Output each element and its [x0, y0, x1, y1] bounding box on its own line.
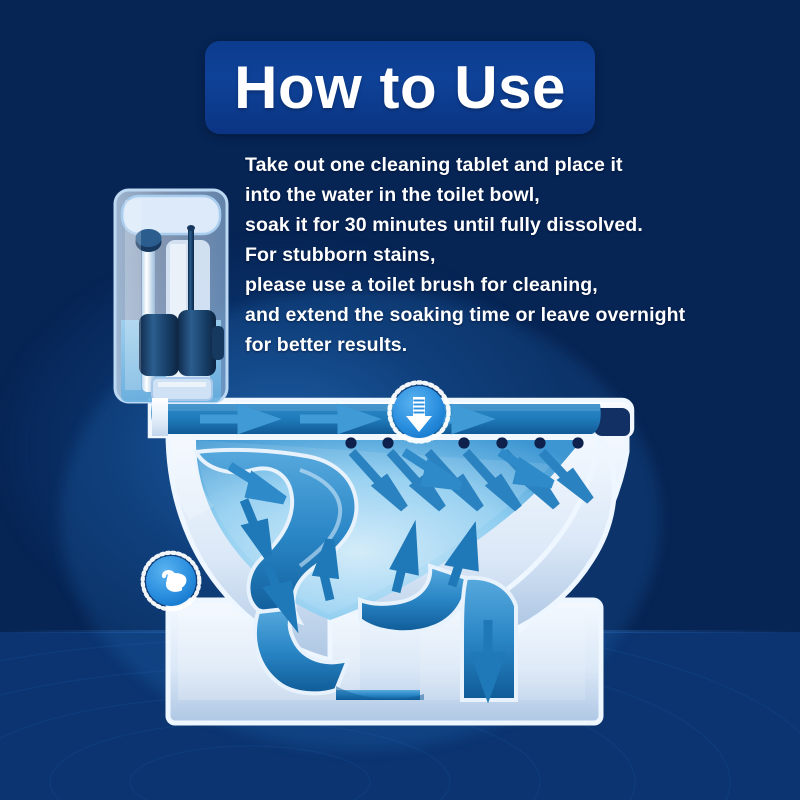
down-arrow-badge[interactable] [387, 380, 451, 444]
instruction-line: For stubborn stains, [245, 240, 765, 270]
flush-swirl-badge[interactable] [140, 550, 202, 612]
instruction-line: please use a toilet brush for cleaning, [245, 270, 765, 300]
rim-supply-channel [150, 404, 601, 434]
instruction-line: for better results. [245, 330, 765, 360]
instruction-text-block: Take out one cleaning tablet and place i… [245, 150, 765, 360]
instruction-line: Take out one cleaning tablet and place i… [245, 150, 765, 180]
instruction-line: soak it for 30 minutes until fully disso… [245, 210, 765, 240]
flush-swirl-icon [140, 550, 202, 612]
instruction-graphic: How to Use Take out one cleaning tablet … [0, 0, 800, 800]
tank-outlet [152, 378, 212, 400]
valve-body [139, 310, 224, 376]
arrow-down-icon [387, 380, 451, 444]
page-title: How to Use [234, 58, 566, 118]
cistern [115, 190, 227, 402]
instruction-line: into the water in the toilet bowl, [245, 180, 765, 210]
title-banner: How to Use [205, 41, 595, 134]
instruction-line: and extend the soaking time or leave ove… [245, 300, 765, 330]
